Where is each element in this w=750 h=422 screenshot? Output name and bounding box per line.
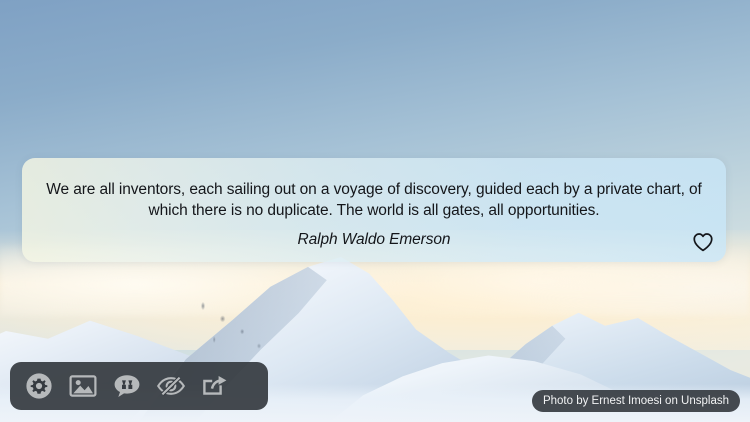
eye-slash-icon [156, 374, 186, 398]
bottom-toolbar [10, 362, 268, 410]
app-root: We are all inventors, each sailing out o… [0, 0, 750, 422]
quote-bubble-icon [113, 373, 141, 399]
photo-attribution[interactable]: Photo by Ernest Imoesi on Unsplash [532, 390, 740, 412]
settings-button[interactable] [17, 364, 61, 408]
quote-text: We are all inventors, each sailing out o… [40, 179, 708, 221]
rock-outcrops [175, 290, 315, 370]
quote-card: We are all inventors, each sailing out o… [22, 158, 726, 262]
share-button[interactable] [193, 364, 237, 408]
favorite-button[interactable] [688, 230, 718, 258]
gear-icon [25, 372, 53, 400]
hide-button[interactable] [149, 364, 193, 408]
image-icon [69, 374, 97, 398]
background-image-button[interactable] [61, 364, 105, 408]
share-icon [201, 374, 229, 398]
quote-button[interactable] [105, 364, 149, 408]
heart-outline-icon [692, 232, 714, 257]
quote-author: Ralph Waldo Emerson [22, 231, 726, 249]
